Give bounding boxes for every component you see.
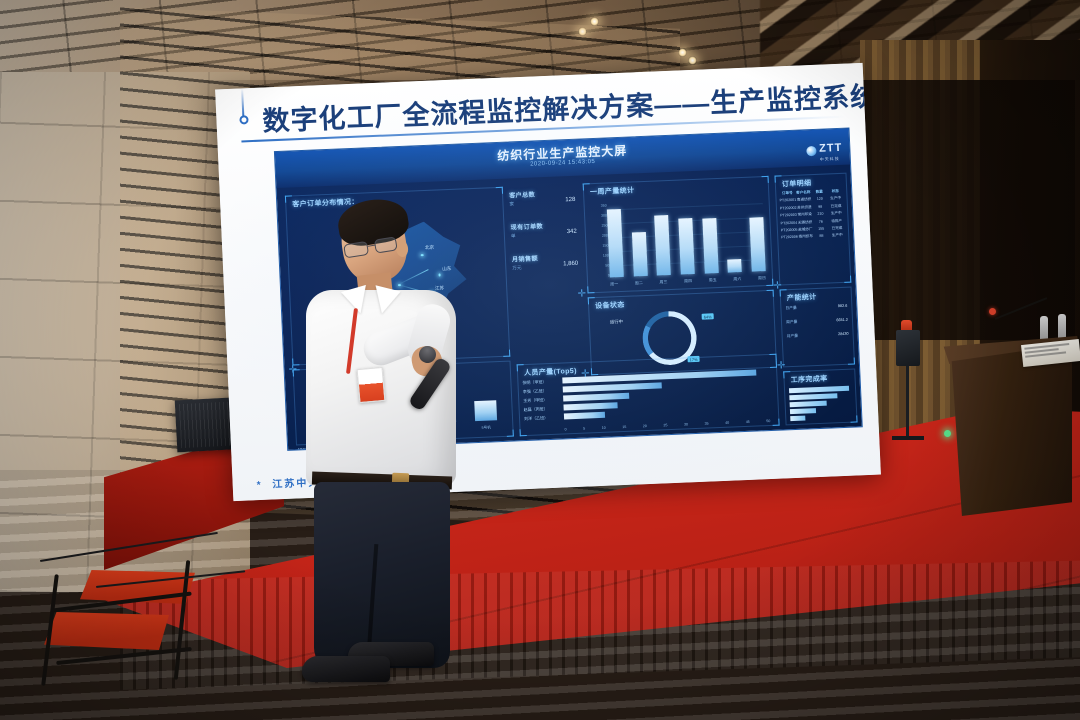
donut-label-left: 运行中 — [610, 319, 623, 326]
table-row[interactable]: PT202001南通纺织120生产中 — [780, 196, 844, 204]
top5-staff-output-panel[interactable]: 人员产量(Top5) 张明（甲班）李强（乙班）王芳（甲班）赵磊（丙班）刘洋（乙班… — [517, 354, 780, 437]
table-column-header: 订单号 — [779, 191, 795, 197]
title-dot-icon — [239, 115, 248, 124]
table-cell: 南通纺织 — [796, 197, 812, 203]
x-tick: 10 — [602, 426, 606, 430]
weekly-output-chart-panel[interactable]: 一周产量统计 350 300 250 200 150 100 50 0 — [583, 176, 774, 294]
x-tick: 15 — [622, 425, 626, 429]
progress-bar[interactable] — [789, 393, 838, 399]
y-tick: 350 — [589, 204, 607, 209]
table-cell: PT202006 — [781, 235, 798, 241]
progress-bars — [784, 370, 854, 373]
y-tick: 0 — [592, 273, 610, 278]
stat-value: 6651.2 — [836, 318, 848, 322]
table-cell: 生产中 — [829, 233, 845, 239]
table-cell: 98 — [812, 204, 828, 210]
table-cell: 76 — [813, 219, 829, 225]
corner-icon — [503, 350, 510, 357]
microphone-tip-icon — [989, 308, 996, 315]
speaker-stand-base — [892, 436, 924, 440]
order-table-heading: 订单明细 — [782, 178, 812, 189]
table-cell: 210 — [813, 212, 829, 218]
podium — [944, 344, 1072, 516]
table-row[interactable]: PT202003常州印染210生产中 — [780, 211, 844, 219]
table-row[interactable]: PT202002苏州织造98已完成 — [780, 204, 844, 212]
corner-icon — [769, 354, 776, 361]
step-lower — [44, 612, 169, 650]
kpi-value: 1,860 — [563, 261, 578, 268]
kpi-card[interactable]: 现有订单数 342 单 — [510, 220, 577, 240]
corner-icon — [587, 286, 594, 293]
bar[interactable] — [563, 393, 629, 402]
kpi-card[interactable]: 月销售额 1,860 万元 — [512, 252, 579, 272]
bar[interactable] — [563, 382, 662, 392]
speaker-stand-pole — [906, 366, 909, 438]
table-cell: PT202003 — [780, 213, 797, 219]
x-tick: 20 — [643, 424, 647, 428]
corner-icon — [844, 276, 851, 283]
table-cell: 常州印染 — [797, 212, 813, 218]
x-tick: 5号机 — [481, 425, 490, 430]
corner-icon — [520, 429, 527, 436]
y-tick: 200 — [590, 234, 608, 239]
stats-list: 日产量982.6周产量6651.2月产量28430 — [781, 288, 851, 291]
bar-label: 王芳（甲班） — [523, 397, 547, 404]
x-tick: 周六 — [733, 276, 741, 282]
table-cell: PT202002 — [780, 206, 797, 212]
stat-key: 周产量 — [786, 320, 798, 325]
x-tick: 周二 — [635, 280, 643, 286]
bar-label: 刘洋（乙班） — [524, 415, 548, 422]
bar[interactable] — [749, 217, 765, 271]
table-cell: 扬州织布 — [798, 234, 814, 240]
bar-label: 张明（甲班） — [522, 379, 546, 386]
progress-bar[interactable] — [790, 416, 805, 421]
bar[interactable] — [632, 232, 648, 277]
progress-bar[interactable] — [790, 401, 827, 407]
microphone-gooseneck — [995, 297, 1048, 320]
order-detail-table-panel[interactable]: 订单明细 订单号客户名称数量状态PT202001南通纺织120生产中PT2020… — [774, 173, 851, 286]
bar[interactable] — [607, 209, 624, 277]
bar[interactable] — [562, 370, 756, 384]
weekly-output-heading: 一周产量统计 — [590, 185, 635, 197]
bar[interactable] — [564, 412, 605, 420]
x-tick: 周三 — [659, 279, 667, 285]
progress-bar[interactable] — [790, 408, 816, 414]
shoe-front — [302, 656, 390, 682]
stat-key: 日产量 — [785, 306, 797, 311]
table-cell: 无锡纺织 — [797, 220, 813, 226]
corner-icon — [507, 430, 514, 437]
x-tick: 周四 — [684, 278, 692, 284]
x-tick: 周一 — [610, 281, 618, 287]
x-tick: 周五 — [709, 277, 717, 283]
order-table[interactable]: 订单号客户名称数量状态PT202001南通纺织120生产中PT202002苏州织… — [779, 189, 845, 243]
corner-icon — [762, 176, 769, 183]
plus-decoration-icon: ✛ — [288, 365, 297, 375]
corner-icon — [772, 419, 779, 426]
conference-room-scene: 数字化工厂全流程监控解决方案——生产监控系统 纺织行业生产监控大屏 2020-0… — [0, 0, 1080, 720]
presenter — [300, 196, 480, 696]
x-tick: 周日 — [758, 275, 766, 281]
stage-steps — [30, 550, 250, 690]
ztt-logo-mark-icon — [806, 146, 816, 156]
pa-speaker — [896, 330, 920, 366]
table-row[interactable]: PT202006扬州织布88生产中 — [781, 233, 845, 241]
step-rail-cross — [56, 647, 192, 665]
table-cell: 已完成 — [829, 226, 845, 232]
dark-trousers — [314, 482, 450, 668]
table-column-header: 数量 — [811, 189, 827, 195]
x-tick: 25 — [663, 423, 667, 427]
table-cell: PT202004 — [781, 220, 798, 226]
plus-decoration-icon: ✛ — [773, 281, 782, 291]
bar[interactable] — [563, 402, 617, 410]
weekly-output-x-axis: 周一周二周三周四周五周六周日 — [610, 275, 766, 287]
ztt-logo-text: ZTT — [819, 142, 843, 155]
bar[interactable] — [702, 218, 718, 274]
stats-heading: 产能统计 — [787, 292, 817, 303]
table-cell: 待排产 — [829, 218, 845, 224]
process-completion-panel[interactable]: 工序完成率 — [783, 368, 857, 425]
plus-decoration-icon: ✛ — [777, 361, 786, 371]
bar-label: 赵磊（丙班） — [524, 406, 548, 413]
lens-right — [374, 236, 398, 253]
table-cell: 120 — [812, 197, 828, 203]
ztt-logo: ZTT 中天科技 — [806, 138, 843, 163]
table-row[interactable]: PT202004无锡纺织76待排产 — [781, 218, 845, 226]
table-cell: 盐城纱厂 — [797, 227, 813, 233]
table-cell: 生产中 — [828, 196, 844, 202]
table-cell: 155 — [813, 226, 829, 232]
kpi-value: 128 — [565, 197, 575, 203]
title-stem-decoration — [241, 88, 244, 116]
corner-icon — [850, 415, 857, 422]
donut-chip-top: 64% — [702, 313, 714, 319]
kpi-value: 342 — [567, 229, 577, 235]
table-cell: 生产中 — [828, 211, 844, 217]
x-tick: 40 — [725, 421, 729, 425]
x-tick: 45 — [746, 420, 750, 424]
table-cell: 已完成 — [828, 204, 844, 210]
bar[interactable] — [654, 215, 671, 275]
x-tick: 5 — [583, 427, 585, 431]
water-bottle — [1040, 316, 1048, 342]
kpi-column: 客户总数 128 家 现有订单数 342 单 月销售额 1,860 万元 — [509, 188, 579, 287]
downlight — [688, 56, 697, 65]
name-badge — [357, 367, 386, 403]
y-tick: 100 — [591, 253, 609, 258]
x-tick: 50 — [766, 419, 770, 423]
stat-key: 月产量 — [787, 334, 799, 339]
y-tick: 50 — [591, 263, 609, 268]
bar[interactable] — [727, 259, 742, 272]
lens-left — [343, 241, 369, 259]
table-cell: 88 — [814, 234, 830, 240]
capacity-stats-panel[interactable]: 产能统计 日产量982.6周产量6651.2月产量28430 — [780, 287, 855, 368]
plus-decoration-icon: ✛ — [577, 289, 586, 299]
weekly-output-bars — [607, 197, 766, 277]
bar-label: 李强（乙班） — [523, 388, 547, 395]
green-indicator-light — [944, 430, 951, 437]
table-cell: 苏州织造 — [796, 205, 812, 211]
y-tick: 150 — [590, 243, 608, 248]
table-cell: PT202001 — [780, 198, 797, 204]
corner-icon — [848, 357, 855, 364]
donut-heading: 设备状态 — [595, 300, 625, 311]
stat-value: 28430 — [838, 332, 849, 336]
top5-bars — [562, 369, 770, 422]
plus-decoration-icon: ✛ — [581, 369, 590, 379]
ztt-logo-subtext: 中天科技 — [820, 156, 843, 163]
x-tick: 35 — [705, 422, 709, 426]
y-tick: 300 — [589, 214, 607, 219]
footer-star-icon: * — [257, 480, 263, 491]
kpi-card[interactable]: 客户总数 128 家 — [509, 188, 576, 208]
corner-icon — [496, 187, 503, 194]
table-column-header: 客户名称 — [795, 190, 811, 196]
table-cell: PT202005 — [781, 228, 798, 234]
x-tick: 30 — [684, 422, 688, 426]
table-column-header: 状态 — [827, 189, 843, 195]
progress-bar[interactable] — [789, 386, 849, 393]
y-tick: 250 — [589, 224, 607, 229]
stat-value: 982.6 — [838, 304, 848, 308]
x-tick: 0 — [564, 427, 566, 431]
bar[interactable] — [678, 218, 694, 274]
progress-heading: 工序完成率 — [790, 374, 827, 386]
